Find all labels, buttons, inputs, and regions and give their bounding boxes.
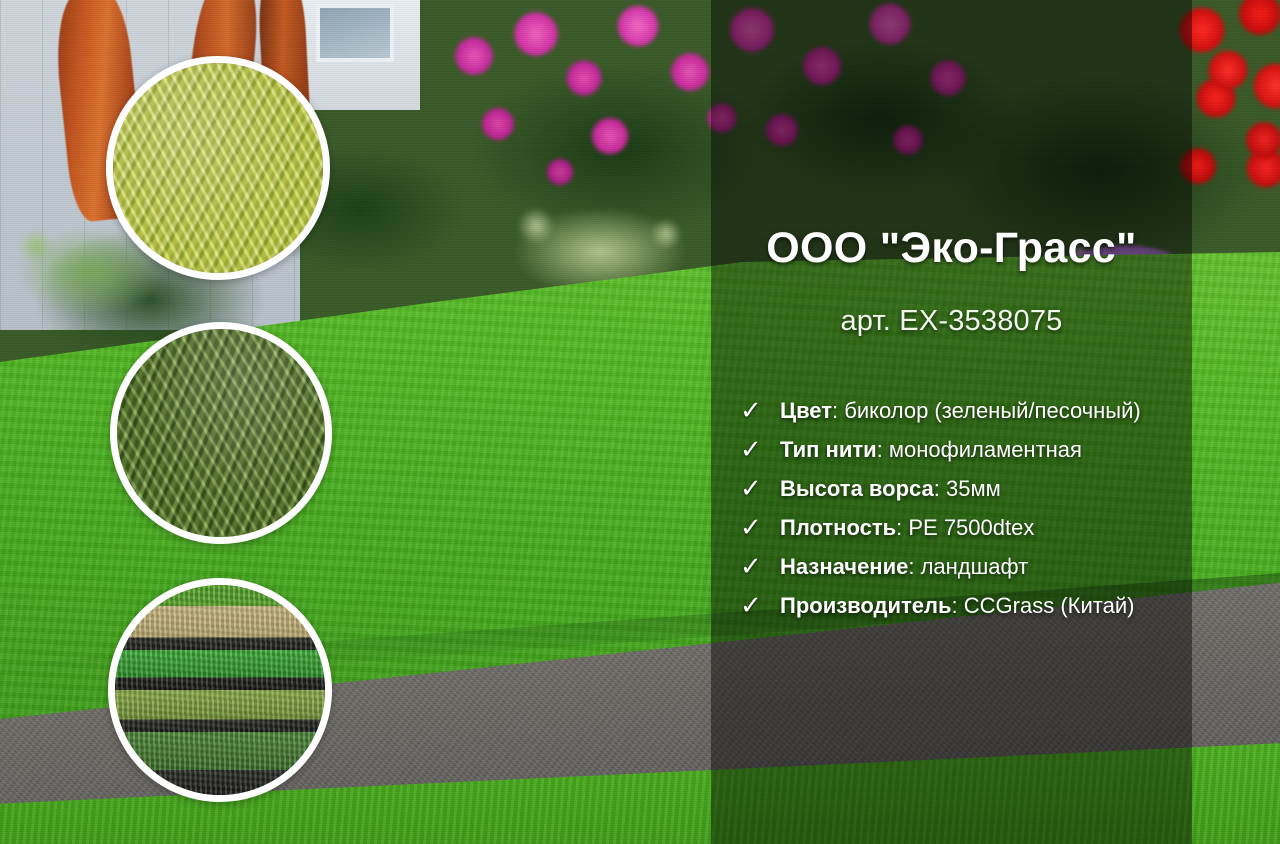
company-title: ООО "Эко-Грасс" xyxy=(711,224,1192,273)
fiber-macro-dark-image xyxy=(117,329,325,537)
feature-value: : монофиламентная xyxy=(877,437,1082,462)
checkmark-icon: ✓ xyxy=(740,397,780,423)
feature-label: Назначение xyxy=(780,554,908,579)
feature-text: Цвет: биколор (зеленый/песочный) xyxy=(780,399,1141,423)
feature-label: Цвет xyxy=(780,398,832,423)
feature-label: Производитель xyxy=(780,593,952,618)
feature-text: Плотность: PE 7500dtex xyxy=(780,516,1034,540)
checkmark-icon: ✓ xyxy=(740,475,780,501)
feature-text: Назначение: ландшафт xyxy=(780,555,1028,579)
feature-row-density: ✓ Плотность: PE 7500dtex xyxy=(740,513,1190,552)
checkmark-icon: ✓ xyxy=(740,592,780,618)
checkmark-icon: ✓ xyxy=(740,436,780,462)
feature-row-color: ✓ Цвет: биколор (зеленый/песочный) xyxy=(740,396,1190,435)
feature-row-thread-type: ✓ Тип нити: монофиламентная xyxy=(740,435,1190,474)
feature-row-manufacturer: ✓ Производитель: CCGrass (Китай) xyxy=(740,591,1190,630)
feature-value: : 35мм xyxy=(934,476,1001,501)
feature-row-purpose: ✓ Назначение: ландшафт xyxy=(740,552,1190,591)
inset-photo-turf-layers xyxy=(108,578,332,802)
feature-row-pile-height: ✓ Высота ворса: 35мм xyxy=(740,474,1190,513)
fiber-macro-light-image xyxy=(113,63,323,273)
inset-photo-fiber-light xyxy=(106,56,330,280)
feature-label: Высота ворса xyxy=(780,476,934,501)
checkmark-icon: ✓ xyxy=(740,514,780,540)
feature-value: : CCGrass (Китай) xyxy=(952,593,1135,618)
feature-value: : биколор (зеленый/песочный) xyxy=(832,398,1141,423)
turf-cross-section-image xyxy=(115,585,325,795)
feature-value: : PE 7500dtex xyxy=(896,515,1034,540)
checkmark-icon: ✓ xyxy=(740,553,780,579)
feature-text: Производитель: CCGrass (Китай) xyxy=(780,594,1134,618)
feature-label: Тип нити xyxy=(780,437,877,462)
feature-label: Плотность xyxy=(780,515,896,540)
article-number: арт. EX-3538075 xyxy=(711,305,1192,338)
feature-text: Высота ворса: 35мм xyxy=(780,477,1001,501)
feature-list: ✓ Цвет: биколор (зеленый/песочный) ✓ Тип… xyxy=(740,396,1190,630)
feature-value: : ландшафт xyxy=(908,554,1028,579)
feature-text: Тип нити: монофиламентная xyxy=(780,438,1082,462)
product-banner: ООО "Эко-Грасс" арт. EX-3538075 ✓ Цвет: … xyxy=(0,0,1280,844)
red-rhododendron-2 xyxy=(1198,0,1280,210)
inset-photo-fiber-dark xyxy=(110,322,332,544)
